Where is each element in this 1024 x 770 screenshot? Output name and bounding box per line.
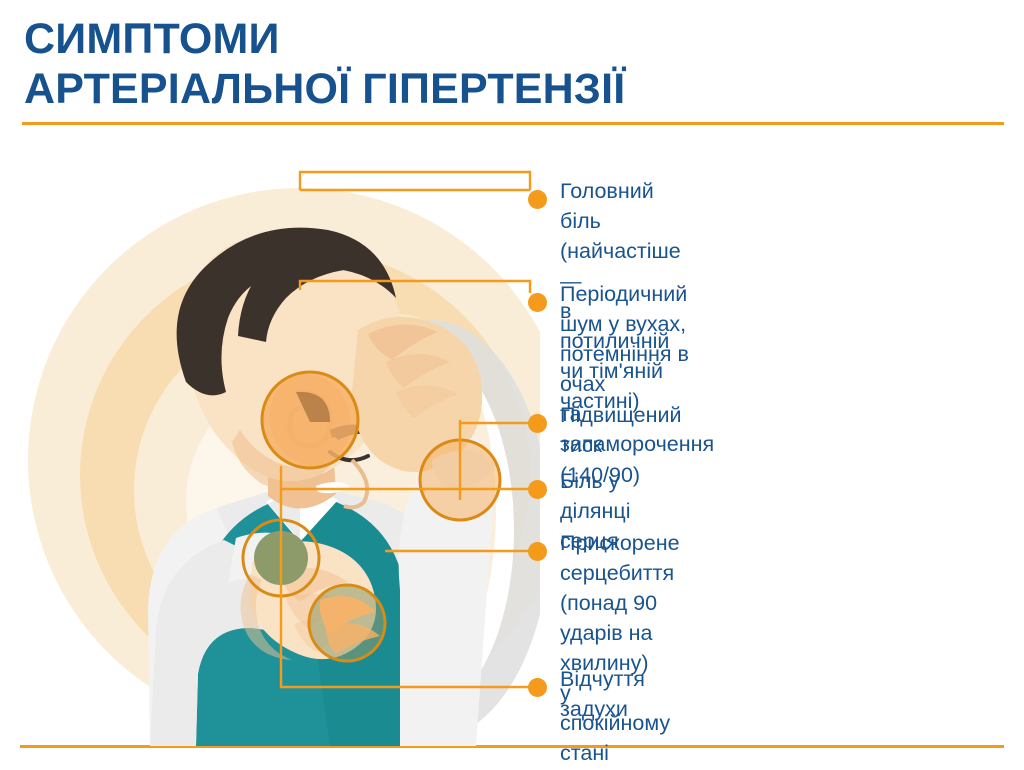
symptom-label-6: Відчуття задухи xyxy=(560,664,645,724)
ear-highlight-circle xyxy=(262,372,358,468)
symptom-list: Головний біль (найчастіше — в потиличній… xyxy=(520,160,1020,720)
temple-highlight-circle xyxy=(420,440,500,520)
hand-chest-highlight-circle xyxy=(309,585,385,661)
bullet-icon-4 xyxy=(528,480,547,499)
infographic-poster: СИМПТОМИ АРТЕРІАЛЬНОЇ ГІПЕРТЕНЗІЇ xyxy=(0,0,1024,770)
bullet-icon-6 xyxy=(528,678,547,697)
illustration-man-with-hypertension xyxy=(0,130,540,746)
bullet-icon-3 xyxy=(528,414,547,433)
bullet-icon-2 xyxy=(528,293,547,312)
bullet-icon-1 xyxy=(528,190,547,209)
title-line-1: СИМПТОМИ xyxy=(24,14,884,64)
title-line-2: АРТЕРІАЛЬНОЇ ГІПЕРТЕНЗІЇ xyxy=(24,64,884,114)
page-title: СИМПТОМИ АРТЕРІАЛЬНОЇ ГІПЕРТЕНЗІЇ xyxy=(24,14,884,114)
bullet-icon-5 xyxy=(528,542,547,561)
heart-highlight-circle xyxy=(243,520,319,596)
title-divider-rule xyxy=(22,122,1004,125)
symptom-label-5: Прискорене серцебиття (понад 90 ударів н… xyxy=(560,528,680,768)
